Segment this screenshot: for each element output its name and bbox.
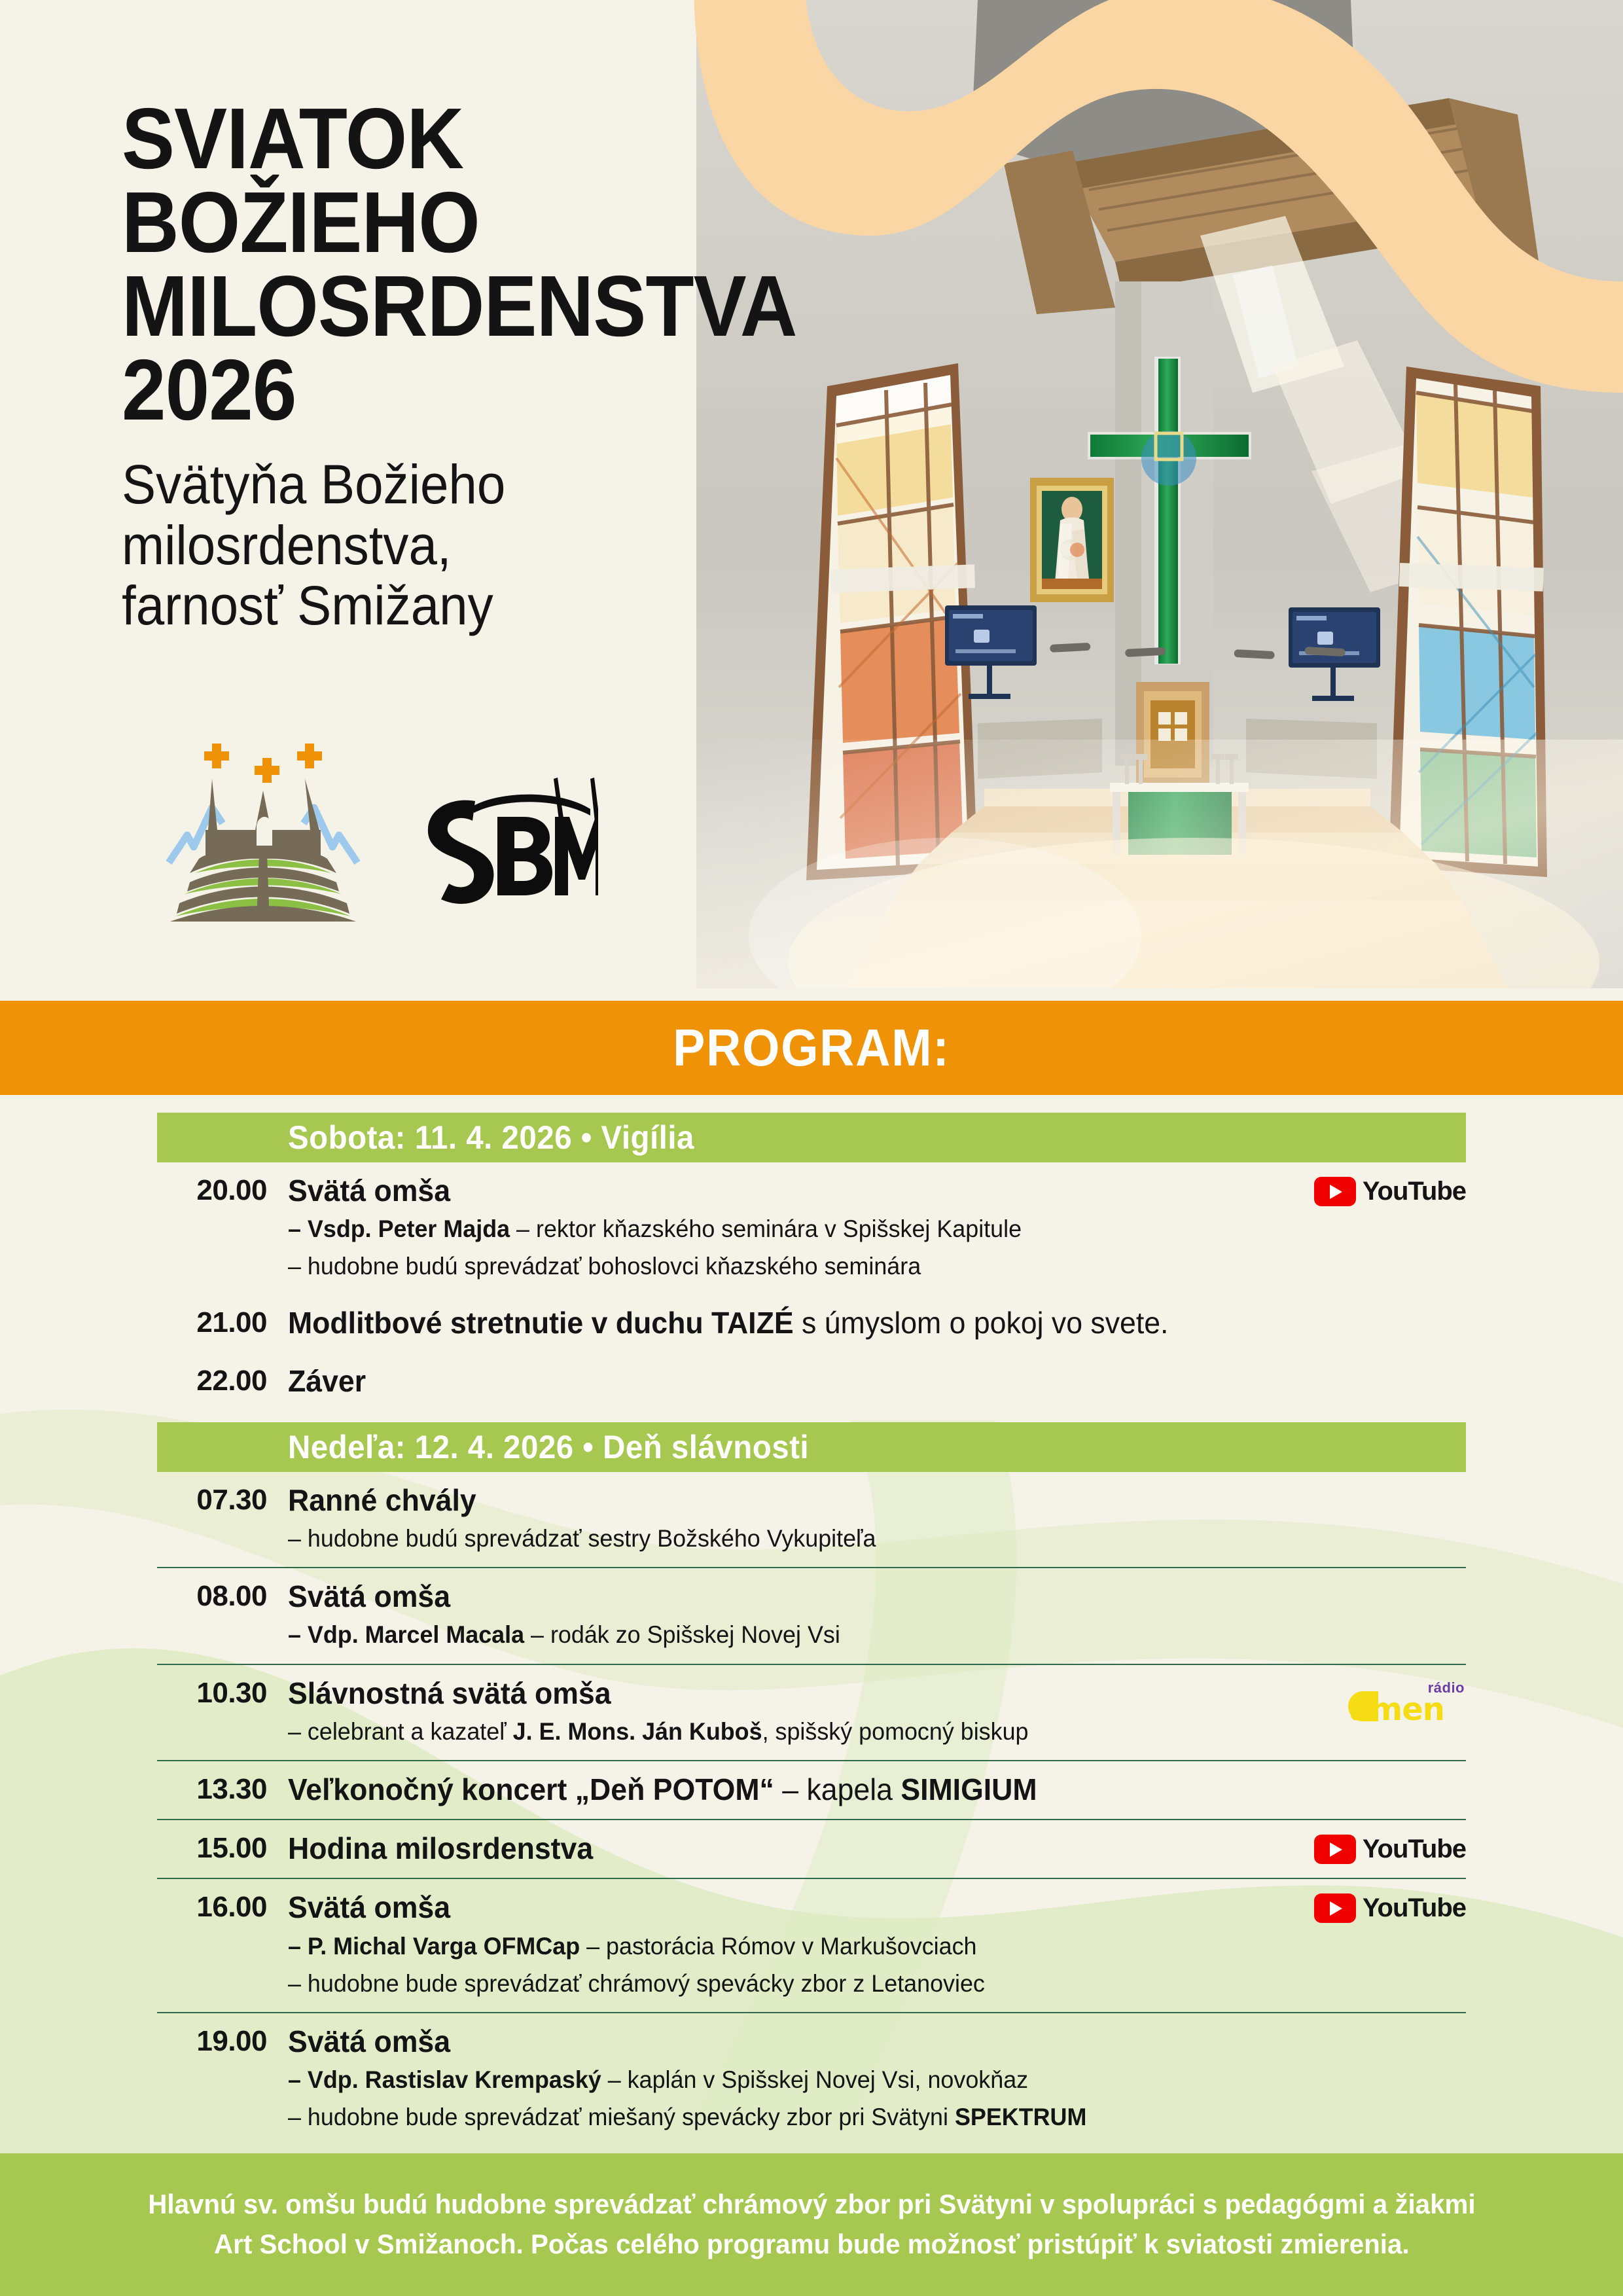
youtube-badge[interactable]: YouTube (1314, 1177, 1466, 1206)
row-title-light: s úmyslom o pokoj vo svete. (794, 1306, 1169, 1340)
row-title: Veľkonočný koncert „Deň POTOM“ – kapela … (288, 1772, 1355, 1807)
poster-root: SVIATOK BOŽIEHOMILOSRDENSTVA2026 Svätyňa… (0, 0, 1623, 2296)
day-header-band: Nedeľa: 12. 4. 2026 • Deň slávnosti (157, 1422, 1466, 1472)
schedule-row: 08.00Svätá omša– Vdp. Marcel Macala – ro… (157, 1567, 1466, 1663)
schedule-rows: 07.30Ranné chvály– hudobne budú sprevádz… (157, 1472, 1466, 2145)
row-title: Svätá omša (288, 1173, 1355, 1208)
program-banner-label: PROGRAM: (65, 1018, 1558, 1078)
footer-note: Hlavnú sv. omšu budú hudobne sprevádzať … (0, 2153, 1623, 2296)
row-subline: – Vdp. Marcel Macala – rodák zo Spišskej… (288, 1618, 1355, 1651)
youtube-play-icon (1314, 1893, 1356, 1923)
row-subline: – hudobne bude sprevádzať chrámový spevá… (288, 1967, 1355, 2000)
program-banner: PROGRAM: (0, 1001, 1623, 1095)
subline-text: – hudobne bude sprevádzať chrámový spevá… (288, 1970, 985, 1997)
row-body: Ranné chvály– hudobne budú sprevádzať se… (288, 1482, 1466, 1555)
schedule-row: 19.00Svätá omša– Vdp. Rastislav Krempask… (157, 2012, 1466, 2145)
row-title-emphasis: SIMIGIUM (901, 1772, 1037, 1806)
subline-bold-2: SPEKTRUM (955, 2104, 1086, 2130)
footer-line-2: Art School v Smižanoch. Počas celého pro… (214, 2225, 1410, 2265)
row-subline: – Vdp. Rastislav Krempaský – kaplán v Sp… (288, 2063, 1355, 2096)
row-title-main: Slávnostná svätá omša (288, 1676, 611, 1710)
youtube-wordmark: YouTube (1363, 1835, 1466, 1864)
row-title: Hodina milosrdenstva (288, 1831, 1355, 1866)
row-title-light: – kapela (774, 1772, 901, 1806)
play-triangle-icon (1330, 1185, 1342, 1199)
row-title-main: Veľkonočný koncert „Deň POTOM“ (288, 1772, 774, 1806)
row-time: 20.00 (157, 1173, 288, 1283)
schedule-row: 22.00Záver (157, 1353, 1466, 1410)
row-badge[interactable]: rádioumen (1348, 1679, 1466, 1727)
youtube-wordmark: YouTube (1363, 1177, 1466, 1206)
youtube-wordmark: YouTube (1363, 1893, 1466, 1923)
row-badge[interactable]: YouTube (1314, 1893, 1466, 1923)
schedule-row: 07.30Ranné chvály– hudobne budú sprevádz… (157, 1472, 1466, 1567)
row-title: Ranné chvály (288, 1482, 1355, 1518)
youtube-badge[interactable]: YouTube (1314, 1893, 1466, 1923)
row-body: Veľkonočný koncert „Deň POTOM“ – kapela … (288, 1772, 1466, 1807)
row-time: 07.30 (157, 1482, 288, 1555)
subline-text-2: , spišský pomocný biskup (762, 1718, 1029, 1745)
subline-text: – hudobne bude sprevádzať miešaný spevác… (288, 2104, 955, 2130)
youtube-badge[interactable]: YouTube (1314, 1835, 1466, 1864)
row-title: Svätá omša (288, 2024, 1355, 2059)
church-interior-photo (696, 0, 1623, 988)
row-title-main: Svätá omša (288, 2024, 450, 2058)
subline-text: – celebrant a kazateľ (288, 1718, 513, 1745)
subline-text: – kaplán v Spišskej Novej Vsi, novokňaz (601, 2066, 1028, 2093)
row-body: Hodina milosrdenstva (288, 1831, 1466, 1866)
row-title: Modlitbové stretnutie v duchu TAIZÉ s úm… (288, 1305, 1355, 1340)
row-title: Slávnostná svätá omša (288, 1676, 1355, 1711)
row-body: Svätá omša– P. Michal Varga OFMCap – pas… (288, 1890, 1466, 2000)
schedule-row: 20.00Svätá omša– Vsdp. Peter Majda – rek… (157, 1162, 1466, 1295)
row-time: 16.00 (157, 1890, 288, 2000)
row-time: 22.00 (157, 1363, 288, 1399)
row-time: 10.30 (157, 1676, 288, 1748)
schedule-rows: 20.00Svätá omša– Vsdp. Peter Majda – rek… (157, 1162, 1466, 1410)
subline-text: – rektor kňazského seminára v Spišskej K… (510, 1215, 1022, 1242)
day-header-label: Sobota: 11. 4. 2026 • Vigília (288, 1119, 694, 1157)
row-body: Svätá omša– Vdp. Rastislav Krempaský – k… (288, 2024, 1466, 2134)
day-header-label: Nedeľa: 12. 4. 2026 • Deň slávnosti (288, 1428, 809, 1466)
subline-bold-2: J. E. Mons. Ján Kuboš (513, 1718, 762, 1745)
sbm-logo-icon (415, 778, 598, 922)
row-badge[interactable]: YouTube (1314, 1835, 1466, 1864)
page-subtitle: Svätyňa Božiehomilosrdenstva,farnosť Smi… (122, 454, 682, 636)
row-subline: – celebrant a kazateľ J. E. Mons. Ján Ku… (288, 1715, 1355, 1748)
radio-lumen-badge[interactable]: rádioumen (1348, 1679, 1466, 1727)
row-subline: – hudobne bude sprevádzať miešaný spevác… (288, 2100, 1355, 2134)
row-title-main: Svätá omša (288, 1890, 450, 1924)
row-title-main: Modlitbové stretnutie v duchu TAIZÉ (288, 1306, 794, 1340)
subline-text: – hudobne budú sprevádzať sestry Božskéh… (288, 1525, 876, 1552)
schedule-row: 21.00Modlitbové stretnutie v duchu TAIZÉ… (157, 1295, 1466, 1352)
row-subline: – Vsdp. Peter Majda – rektor kňazského s… (288, 1212, 1355, 1246)
play-triangle-icon (1330, 1842, 1342, 1857)
row-body: Záver (288, 1363, 1466, 1399)
row-title: Záver (288, 1363, 1355, 1399)
lumen-wordmark: umen (1348, 1691, 1444, 1728)
row-title-main: Záver (288, 1364, 366, 1398)
row-body: Slávnostná svätá omša– celebrant a kazat… (288, 1676, 1466, 1748)
day-header-band: Sobota: 11. 4. 2026 • Vigília (157, 1113, 1466, 1162)
subline-text: – pastorácia Rómov v Markušovciach (580, 1933, 976, 1960)
logo-row (165, 725, 598, 922)
title-block: SVIATOK BOŽIEHOMILOSRDENSTVA2026 Svätyňa… (122, 97, 724, 636)
youtube-play-icon (1314, 1177, 1356, 1206)
play-triangle-icon (1330, 1901, 1342, 1916)
schedule-row: 10.30Slávnostná svätá omša– celebrant a … (157, 1664, 1466, 1760)
row-title: Svätá omša (288, 1579, 1355, 1614)
row-badge[interactable]: YouTube (1314, 1177, 1466, 1206)
subline-bold: – Vdp. Rastislav Krempaský (288, 2066, 601, 2093)
row-title-main: Ranné chvály (288, 1483, 476, 1517)
footer-line-1: Hlavnú sv. omšu budú hudobne sprevádzať … (148, 2185, 1475, 2225)
subline-bold: – Vdp. Marcel Macala (288, 1621, 524, 1648)
schedule-row: 15.00Hodina milosrdenstvaYouTube (157, 1819, 1466, 1878)
schedule-row: 13.30Veľkonočný koncert „Deň POTOM“ – ka… (157, 1760, 1466, 1819)
row-title-main: Svätá omša (288, 1174, 450, 1208)
subline-bold: – Vsdp. Peter Majda (288, 1215, 510, 1242)
row-time: 13.30 (157, 1772, 288, 1807)
row-subline: – hudobne budú sprevádzať sestry Božskéh… (288, 1522, 1355, 1555)
schedule-row: 16.00Svätá omša– P. Michal Varga OFMCap … (157, 1878, 1466, 2011)
row-time: 19.00 (157, 2024, 288, 2134)
row-body: Svätá omša– Vdp. Marcel Macala – rodák z… (288, 1579, 1466, 1651)
subline-text: – hudobne budú sprevádzať bohoslovci kňa… (288, 1253, 921, 1280)
parish-logo-icon (165, 725, 361, 922)
subline-bold: – P. Michal Varga OFMCap (288, 1933, 580, 1960)
row-time: 08.00 (157, 1579, 288, 1651)
schedule: Sobota: 11. 4. 2026 • Vigília20.00Svätá … (0, 1113, 1623, 2145)
row-subline: – P. Michal Varga OFMCap – pastorácia Ró… (288, 1929, 1355, 1963)
row-title-main: Svätá omša (288, 1579, 450, 1613)
row-time: 15.00 (157, 1831, 288, 1866)
subline-text: – rodák zo Spišskej Novej Vsi (524, 1621, 840, 1648)
row-subline: – hudobne budú sprevádzať bohoslovci kňa… (288, 1249, 1355, 1283)
row-time: 21.00 (157, 1305, 288, 1340)
row-title-main: Hodina milosrdenstva (288, 1831, 593, 1865)
row-body: Modlitbové stretnutie v duchu TAIZÉ s úm… (288, 1305, 1466, 1340)
row-title: Svätá omša (288, 1890, 1355, 1925)
page-title: SVIATOK BOŽIEHOMILOSRDENSTVA2026 (122, 97, 675, 432)
youtube-play-icon (1314, 1835, 1356, 1864)
row-body: Svätá omša– Vsdp. Peter Majda – rektor k… (288, 1173, 1466, 1283)
